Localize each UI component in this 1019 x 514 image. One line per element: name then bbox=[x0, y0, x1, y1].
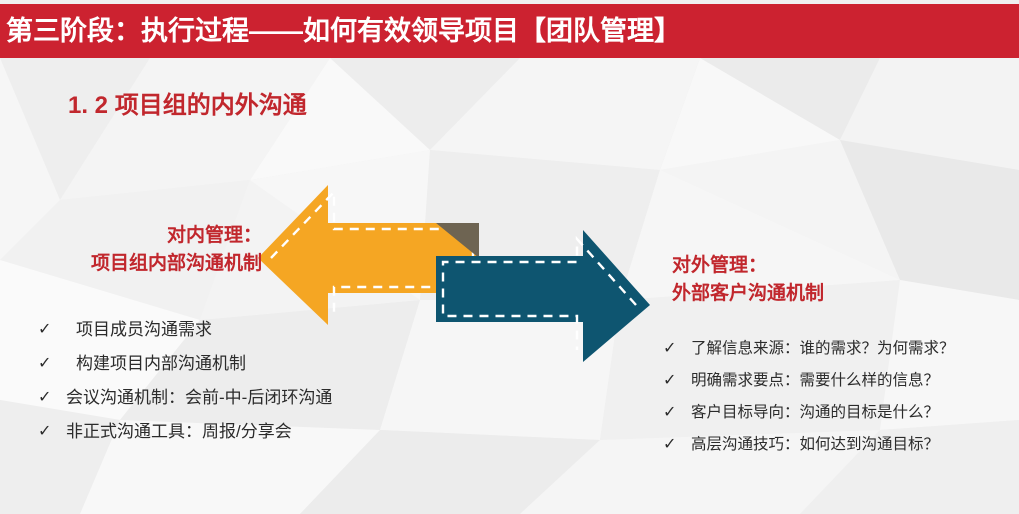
label-internal-line1: 对内管理： bbox=[0, 222, 262, 250]
list-item: ✓ 高层沟通技巧：如何达到沟通目标？ bbox=[663, 429, 1013, 461]
bullet-list-external: ✓ 了解信息来源：谁的需求？为何需求？ ✓ 明确需求要点：需要什么样的信息？ ✓… bbox=[663, 333, 1013, 461]
check-icon: ✓ bbox=[38, 381, 54, 415]
list-item-label: 非正式沟通工具：周报/分享会 bbox=[66, 415, 292, 449]
list-item: ✓ 会议沟通机制：会前-中-后闭环沟通 bbox=[38, 381, 438, 415]
label-internal-management: 对内管理： 项目组内部沟通机制 bbox=[0, 222, 262, 278]
check-icon: ✓ bbox=[38, 347, 54, 381]
label-external-line2: 外部客户沟通机制 bbox=[672, 280, 1002, 308]
check-icon: ✓ bbox=[663, 365, 679, 397]
list-item: ✓ 非正式沟通工具：周报/分享会 bbox=[38, 415, 438, 449]
list-item: ✓ 构建项目内部沟通机制 bbox=[38, 347, 438, 381]
slide-canvas: 第三阶段：执行过程——如何有效领导项目【团队管理】 1. 2 项目组的内外沟通 … bbox=[0, 0, 1019, 514]
list-item-label: 构建项目内部沟通机制 bbox=[76, 347, 246, 381]
bullet-list-internal: ✓ 项目成员沟通需求 ✓ 构建项目内部沟通机制 ✓ 会议沟通机制：会前-中-后闭… bbox=[38, 313, 438, 449]
list-item: ✓ 明确需求要点：需要什么样的信息？ bbox=[663, 365, 1013, 397]
check-icon: ✓ bbox=[663, 429, 679, 461]
label-external-line1: 对外管理： bbox=[672, 252, 1002, 280]
list-item-label: 项目成员沟通需求 bbox=[76, 313, 212, 347]
check-icon: ✓ bbox=[38, 415, 54, 449]
label-external-management: 对外管理： 外部客户沟通机制 bbox=[672, 252, 1002, 308]
label-internal-line2: 项目组内部沟通机制 bbox=[0, 250, 262, 278]
list-item-label: 高层沟通技巧：如何达到沟通目标？ bbox=[691, 429, 939, 461]
list-item: ✓ 项目成员沟通需求 bbox=[38, 313, 438, 347]
list-item-label: 客户目标导向：沟通的目标是什么？ bbox=[691, 397, 939, 429]
list-item-label: 会议沟通机制：会前-中-后闭环沟通 bbox=[66, 381, 332, 415]
list-item: ✓ 客户目标导向：沟通的目标是什么？ bbox=[663, 397, 1013, 429]
list-item-label: 了解信息来源：谁的需求？为何需求？ bbox=[691, 333, 955, 365]
check-icon: ✓ bbox=[663, 333, 679, 365]
list-item: ✓ 了解信息来源：谁的需求？为何需求？ bbox=[663, 333, 1013, 365]
list-item-label: 明确需求要点：需要什么样的信息？ bbox=[691, 365, 939, 397]
check-icon: ✓ bbox=[38, 313, 54, 347]
check-icon: ✓ bbox=[663, 397, 679, 429]
